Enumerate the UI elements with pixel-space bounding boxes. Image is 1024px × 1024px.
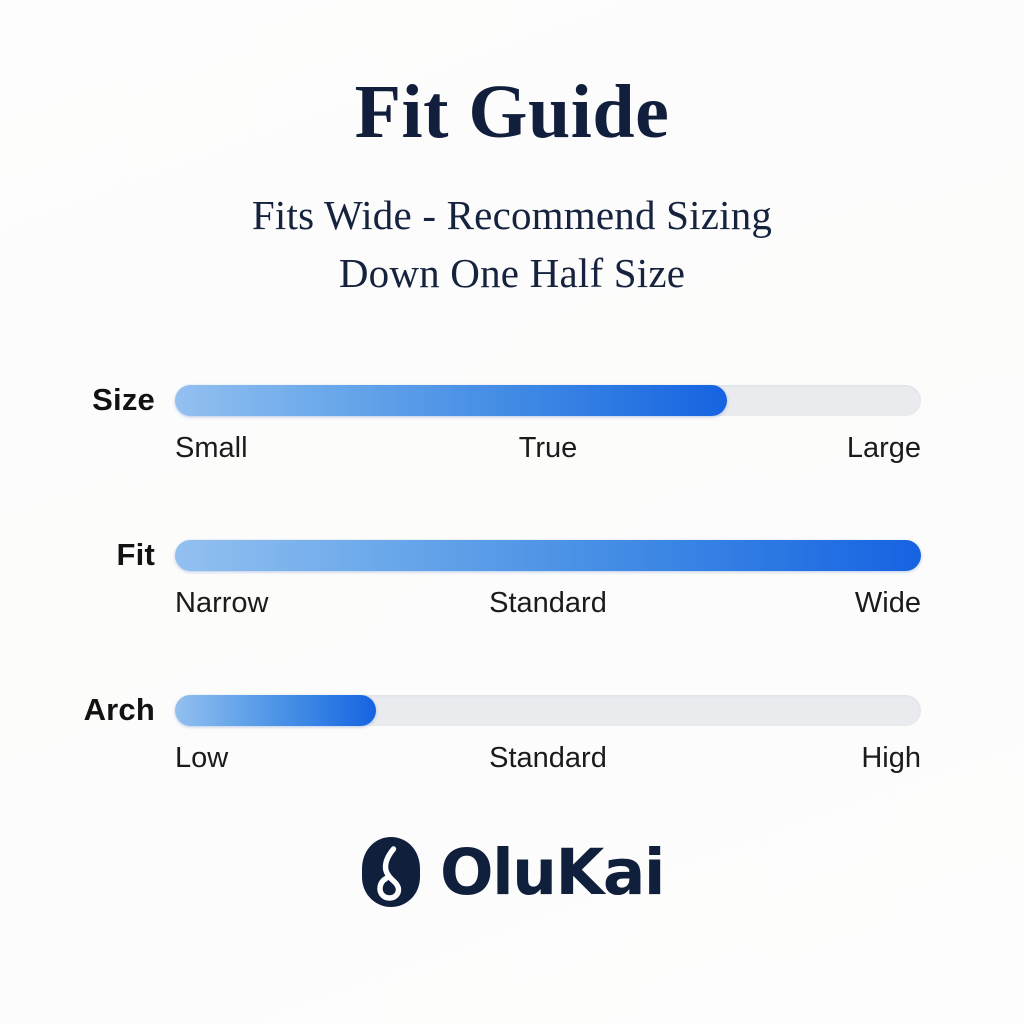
subtitle-line-1: Fits Wide - Recommend Sizing (0, 186, 1024, 244)
scale-label-left-fit: Narrow (175, 587, 268, 620)
slider-scale-size: Small True Large (175, 432, 921, 472)
slider-row-arch: Arch Low Standard High (0, 682, 1024, 837)
slider-track-arch[interactable] (175, 695, 921, 726)
scale-label-mid-size: True (519, 432, 578, 465)
slider-list: Size Small True Large Fit Narrow (0, 372, 1024, 837)
scale-label-right-fit: Wide (855, 587, 921, 620)
slider-scale-fit: Narrow Standard Wide (175, 587, 921, 627)
slider-track-size[interactable] (175, 385, 921, 416)
scale-label-mid-fit: Standard (489, 587, 607, 620)
slider-label-arch: Arch (35, 692, 155, 728)
brand-name: OluKai (440, 841, 664, 904)
slider-track-wrap-arch (175, 695, 921, 726)
scale-label-right-arch: High (861, 742, 921, 775)
slider-row-size: Size Small True Large (0, 372, 1024, 527)
page-title: Fit Guide (0, 74, 1024, 150)
header: Fit Guide Fits Wide - Recommend Sizing D… (0, 74, 1024, 302)
slider-track-fit[interactable] (175, 540, 921, 571)
slider-scale-arch: Low Standard High (175, 742, 921, 782)
slider-track-wrap-size (175, 385, 921, 416)
slider-row-fit: Fit Narrow Standard Wide (0, 527, 1024, 682)
slider-fill-arch (175, 695, 376, 726)
fit-guide-card: Fit Guide Fits Wide - Recommend Sizing D… (0, 0, 1024, 1024)
slider-track-wrap-fit (175, 540, 921, 571)
subtitle-line-2: Down One Half Size (0, 244, 1024, 302)
brand-logo: OluKai (0, 836, 1024, 908)
page-subtitle: Fits Wide - Recommend Sizing Down One Ha… (0, 186, 1024, 302)
scale-label-mid-arch: Standard (489, 742, 607, 775)
scale-label-right-size: Large (847, 432, 921, 465)
scale-label-left-size: Small (175, 432, 248, 465)
slider-fill-fit (175, 540, 921, 571)
slider-label-size: Size (35, 382, 155, 418)
slider-label-fit: Fit (35, 537, 155, 573)
fishhook-icon (360, 836, 422, 908)
slider-fill-size (175, 385, 727, 416)
scale-label-left-arch: Low (175, 742, 228, 775)
